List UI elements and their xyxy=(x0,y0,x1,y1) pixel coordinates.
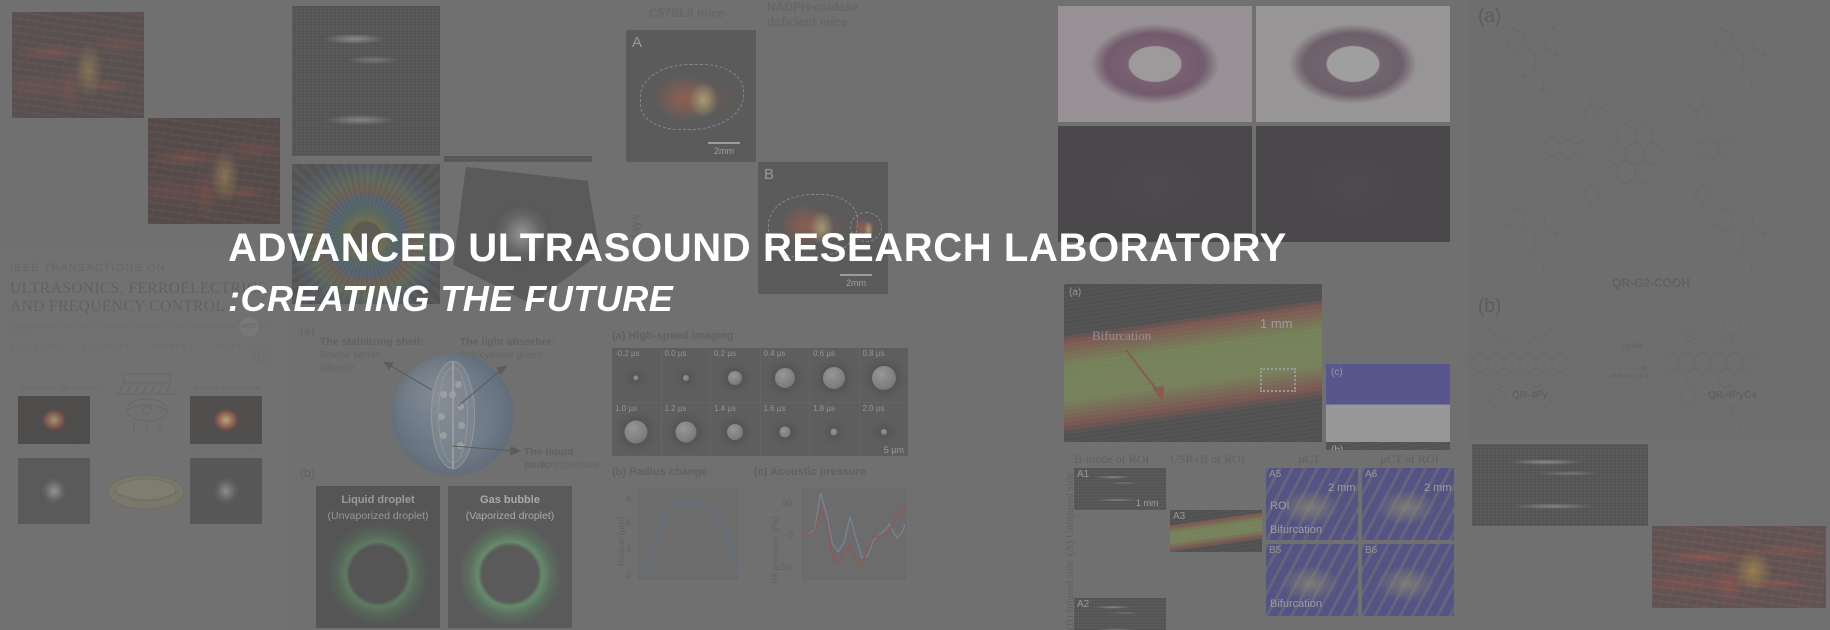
microbubble-tag-b: (b) xyxy=(300,466,315,480)
thermal-scale-min-left: Min xyxy=(19,446,28,452)
roi-column-header-usrb: USR+B of ROI xyxy=(1170,452,1245,467)
bubble-shape-icon xyxy=(775,368,795,388)
bifurcation-arrow-icon xyxy=(1064,284,1322,442)
journal-issn: (ISSN 0885-3010) xyxy=(252,344,290,365)
ieee-uffc-seal-icon: UFFC xyxy=(238,316,260,338)
radius-chart-plot-area xyxy=(636,486,740,582)
cell-id-b6: B6 xyxy=(1365,545,1377,556)
scale-bar-b xyxy=(840,274,872,276)
bifurcation-label: Bifurcation xyxy=(1092,328,1151,344)
scale-text-1mm: 1 mm xyxy=(1260,316,1293,331)
schematic-caption-left: Without the light absorber xyxy=(22,386,99,392)
highspeed-frame-time: 1.2 µs xyxy=(665,404,687,413)
highspeed-frame-grid: -0.2 µs0.0 µs0.2 µs0.4 µs0.6 µs0.8 µs1.0… xyxy=(612,348,908,456)
panel-id-a: A xyxy=(632,34,642,51)
journal-line-1: IEEE TRANSACTIONS ON xyxy=(10,262,166,274)
radius-chart-line xyxy=(637,487,739,581)
cell-id-a5: A5 xyxy=(1269,469,1281,480)
bmode-tile-2 xyxy=(444,156,592,162)
ultrasound-bmode-pair xyxy=(292,0,602,162)
schematic-caption-right: With the light absorber xyxy=(194,386,262,392)
qr-g2-cooh-structure-icon xyxy=(1468,6,1830,316)
bubble-shape-icon xyxy=(683,375,689,381)
column-header-nadph: NADPH-oxidasedeficient mice xyxy=(767,0,867,30)
highspeed-frame: 1.0 µs xyxy=(612,403,661,457)
roi-cell-a6: A6 2 mm xyxy=(1362,468,1454,540)
roi-cell-b6: B6 xyxy=(1362,544,1454,616)
vascular-image-grid xyxy=(0,0,290,245)
roi-cell-b5: B5 Bifurcation xyxy=(1266,544,1358,616)
liquid-droplet-subtitle: (Unvaporized droplet) xyxy=(316,510,440,522)
liquid-droplet-frame: Liquid droplet (Unvaporized droplet) xyxy=(316,486,440,628)
bubble-shape-icon xyxy=(675,422,696,443)
pressure-chart-plot-area xyxy=(800,486,908,582)
specimen-illustration xyxy=(104,460,188,524)
cell-id-a3: A3 xyxy=(1173,511,1185,522)
highspeed-frame-time: 1.4 µs xyxy=(714,404,736,413)
thermal-map-without-absorber xyxy=(18,396,90,444)
pressure-ytick-neg50: -50 xyxy=(778,562,791,572)
transducer-drawing-icon xyxy=(110,364,184,438)
highspeed-frame-time: 2.0 µs xyxy=(863,404,885,413)
journal-number: NUMBER 8 xyxy=(152,344,195,351)
transducer-schematic xyxy=(110,364,184,438)
bubble-shape-icon xyxy=(728,371,742,385)
radius-ytick-2: 2 xyxy=(626,570,631,580)
radius-ytick-8: 8 xyxy=(626,494,631,504)
liver-roi-outline-secondary xyxy=(850,212,882,242)
roi-zoom-fluorescence: (b) 200 µm xyxy=(1326,442,1450,450)
microbubble-diagram: (a) The stabilizing shell: Bovine seruma… xyxy=(292,318,602,630)
roi-column-header-uct: µCT xyxy=(1298,452,1320,467)
scale-bar-a xyxy=(708,142,740,144)
radius-plot-title: (b) Radius change xyxy=(612,466,707,478)
histology-tile-3 xyxy=(1058,126,1252,242)
reaction-reagent: C4H9Br xyxy=(1622,344,1643,350)
journal-line-2a: ULTRASONICS, FERROELECTRICS xyxy=(10,280,267,298)
histology-tile-4 xyxy=(1256,126,1450,242)
collage-hero-banner: IEEE TRANSACTIONS ON ULTRASONICS, FERROE… xyxy=(0,0,1830,630)
highspeed-frame-time: 0.6 µs xyxy=(813,349,835,358)
roi-column-header-bmode: B-mode of ROI xyxy=(1074,452,1149,467)
highspeed-frame: 1.2 µs xyxy=(662,403,711,457)
atherosclerosis-tag-a: (a) xyxy=(1069,287,1081,298)
scale-text-a: 2mm xyxy=(714,146,734,156)
thermal-scale-min-right: Min xyxy=(191,446,200,452)
highspeed-frame-time: 0.4 µs xyxy=(764,349,786,358)
radius-chart-ylabel: Radius (µm) xyxy=(616,517,626,566)
compound-label-main: QR-G2-COOH xyxy=(1612,276,1690,290)
roi-cell-a5: A5 2 mm ROI Bifurcation xyxy=(1266,468,1358,540)
annotation-bifurcation-b5: Bifurcation xyxy=(1270,598,1322,610)
journal-volume: VOLUME 64 xyxy=(82,344,129,351)
panel-id-b: B xyxy=(764,166,774,183)
specimen-drawing-icon xyxy=(104,460,188,524)
scale-text-b: 2mm xyxy=(846,278,866,288)
callout-arrows-icon xyxy=(292,318,602,498)
highspeed-frame-time: 0.8 µs xyxy=(863,349,885,358)
pressure-chart-lines xyxy=(801,487,907,581)
bubble-shape-icon xyxy=(727,424,743,440)
row-label-14days: 14 days xyxy=(628,214,642,258)
gas-bubble-frame: Gas bubble (Vaporized droplet) xyxy=(448,486,572,628)
chemistry-tag-b: (b) xyxy=(1478,296,1501,318)
scale-text-a6: 2 mm xyxy=(1424,482,1452,494)
thermal-map-with-absorber xyxy=(190,396,262,444)
highspeed-frame: 1.4 µs xyxy=(711,403,760,457)
cell-id-b5: B5 xyxy=(1269,545,1281,556)
roi-cell-a2: A2 xyxy=(1074,598,1166,630)
highspeed-title: (a) High-speed imaging xyxy=(612,330,734,342)
pressure-plot-title: (c) Acoustic pressure xyxy=(754,466,866,478)
highspeed-frame: 0.8 µs xyxy=(860,348,909,402)
annotation-bifurcation-a5: Bifurcation xyxy=(1270,524,1322,536)
pa-bottom-tile-1 xyxy=(1472,444,1648,526)
cell-id-a2: A2 xyxy=(1077,599,1089,610)
journal-code: ITUCER xyxy=(212,344,243,351)
gas-bubble-title: Gas bubble xyxy=(448,494,572,506)
reaction-conditions: DMF/Ar, 110°C xyxy=(1610,374,1650,380)
highspeed-frame: 0.0 µs xyxy=(662,348,711,402)
vascular-tile-1 xyxy=(12,12,144,118)
pressure-chart-ylabel: PA pressure (Pa) xyxy=(770,516,780,584)
highspeed-frame: 0.4 µs xyxy=(761,348,810,402)
pressure-ytick-0: 0 xyxy=(788,530,793,540)
volume-render-left xyxy=(18,458,90,524)
highspeed-frame-time: -0.2 µs xyxy=(615,349,640,358)
cell-id-a1: A1 xyxy=(1077,469,1089,480)
compound-label-product: QR-4PyC4 xyxy=(1708,390,1757,401)
highspeed-frame: 1.6 µs xyxy=(761,403,810,457)
bifurcation-overview-image: (a) Bifurcation 1 mm xyxy=(1064,284,1322,442)
roi-cell-a3: A3 xyxy=(1170,510,1262,552)
scale-text-a5: 2 mm xyxy=(1328,482,1356,494)
ieee-journal-cover: IEEE TRANSACTIONS ON ULTRASONICS, FERROE… xyxy=(0,248,290,630)
gas-bubble-subtitle: (Vaporized droplet) xyxy=(448,510,572,522)
histology-row xyxy=(1058,0,1464,248)
bubble-shape-icon xyxy=(634,375,639,380)
highspeed-frame: 0.2 µs xyxy=(711,348,760,402)
bubble-shape-icon xyxy=(831,429,838,436)
bubble-shape-icon xyxy=(881,429,887,435)
highspeed-frame: 1.8 µs xyxy=(810,403,859,457)
annotation-roi-a5: ROI xyxy=(1270,500,1290,512)
column-header-c57bl6: C57BL6 mice xyxy=(649,6,724,20)
highspeed-frame-time: 1.6 µs xyxy=(764,404,786,413)
highspeed-frame-time: 0.0 µs xyxy=(665,349,687,358)
roi-comparison-grid: (A) Uninjured side (B) Injured side B-mo… xyxy=(1058,452,1464,630)
bmode-tile-1 xyxy=(292,6,440,156)
volume-render-right xyxy=(190,458,262,524)
histology-boundary-dash xyxy=(1332,406,1444,408)
compound-label-reactant: QR-4Py xyxy=(1512,390,1548,401)
liver-panel-b: B 2mm xyxy=(758,162,888,294)
thermal-scale-max-left: Max xyxy=(74,446,85,452)
roi-column-header-uct-roi: µCT of ROI xyxy=(1380,452,1439,467)
highspeed-frame-time: 1.8 µs xyxy=(813,404,835,413)
atherosclerosis-tag-b: (b) xyxy=(1331,445,1343,450)
liquid-droplet-title: Liquid droplet xyxy=(316,494,440,506)
pa-bottom-tile-2 xyxy=(1652,526,1826,608)
bubble-shape-icon xyxy=(625,421,648,444)
highspeed-scale-text: 5 µm xyxy=(884,445,904,455)
histology-tile-1 xyxy=(1058,6,1252,122)
highspeed-frame-time: 0.2 µs xyxy=(714,349,736,358)
pressure-ytick-50: 50 xyxy=(782,498,792,508)
highspeed-frame-time: 1.0 µs xyxy=(615,404,637,413)
volume-render-hexagon xyxy=(444,164,600,304)
roi-dashed-box xyxy=(1260,368,1296,392)
oct-colour-disc xyxy=(292,164,440,304)
journal-line-2b: AND FREQUENCY CONTROL xyxy=(10,298,225,316)
radius-ytick-6: 6 xyxy=(626,518,631,528)
radius-ytick-4: 4 xyxy=(626,544,631,554)
thermal-scale-max-right: Max xyxy=(246,446,257,452)
highspeed-frame: 0.6 µs xyxy=(810,348,859,402)
bottom-right-image-grid xyxy=(1468,444,1830,630)
histology-tile-2 xyxy=(1256,6,1450,122)
atherosclerosis-panel: (a) Bifurcation 1 mm (b) 200 µm (c) xyxy=(1058,250,1464,450)
cell-id-a6: A6 xyxy=(1365,469,1377,480)
journal-issue-date: AUGUST 2017 xyxy=(10,344,67,351)
liver-panel-a: A 2mm xyxy=(626,30,756,162)
vascular-tile-2 xyxy=(148,118,280,224)
chemistry-panel: (a) xyxy=(1468,0,1830,440)
highspeed-frame: -0.2 µs xyxy=(612,348,661,402)
roi-cell-a1: A1 1 mm xyxy=(1074,468,1166,510)
atherosclerosis-tag-c: (c) xyxy=(1331,367,1343,378)
scale-text-a1: 1 mm xyxy=(1136,498,1159,508)
roi-zoom-histology: (c) xyxy=(1326,364,1450,442)
bubble-shape-icon xyxy=(779,427,790,438)
bubble-shape-icon xyxy=(823,367,845,389)
bubble-shape-icon xyxy=(872,366,896,390)
highspeed-and-plots: (a) High-speed imaging -0.2 µs0.0 µs0.2 … xyxy=(604,318,944,630)
mouse-liver-panel: C57BL6 mice NADPH-oxidasedeficient mice … xyxy=(604,0,904,312)
